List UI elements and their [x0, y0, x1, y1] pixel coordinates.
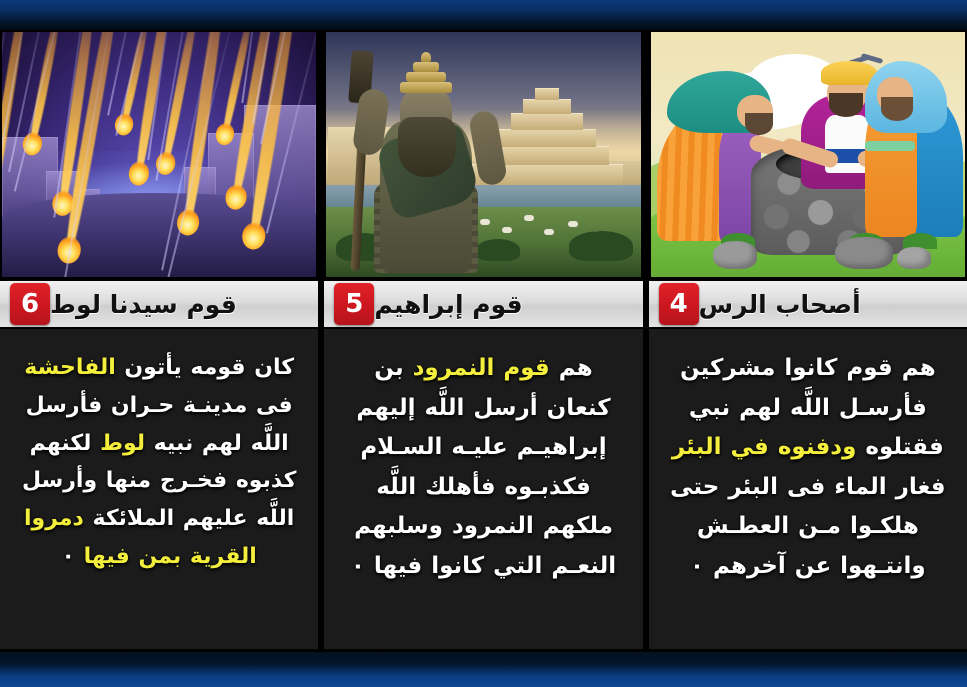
figure-right-man: [853, 57, 963, 237]
infographic-stage: أصحاب الرس 4 هم قوم كانوا مشركين فأرسـل …: [0, 0, 967, 687]
panel-title: قوم إبراهيم: [374, 292, 522, 317]
panel-title: أصحاب الرس: [699, 292, 861, 317]
panel-qawm-lut[interactable]: قوم سيدنا لوط 6 كان قومه يأتون الفاحشة ف…: [0, 30, 318, 649]
text-run: بن كنعان أرسل اللَّه إليهم إبراهيـم عليـ…: [351, 355, 616, 579]
scene-nimrod-ziggurat: [326, 32, 640, 277]
panel-illustration-nimrod: [324, 30, 642, 279]
panel-illustration-well: [649, 30, 967, 279]
panel-body-text: كان قومه يأتون الفاحشة فى مدينـة حـران ف…: [0, 329, 318, 649]
panel-title-bar: أصحاب الرس 4: [649, 279, 967, 329]
highlighted-phrase: الفاحشة: [24, 355, 115, 380]
panel-qawm-ibrahim[interactable]: قوم إبراهيم 5 هم قوم النمرود بن كنعان أر…: [324, 30, 642, 649]
panel-number-badge: 5: [334, 283, 374, 325]
highlighted-phrase: قوم النمرود: [413, 355, 550, 381]
panel-ashab-al-rass[interactable]: أصحاب الرس 4 هم قوم كانوا مشركين فأرسـل …: [649, 30, 967, 649]
text-run: فغار الماء فى البئر حتى هلكـوا مـن العطـ…: [670, 474, 945, 579]
scene-well-cartoon: [651, 32, 965, 277]
rock-shape: [897, 247, 931, 269]
highlighted-phrase: ودفنوه في البئر: [672, 434, 857, 460]
rock-shape: [713, 241, 757, 269]
scene-meteor-rain: [2, 32, 316, 277]
text-run: كان قومه يأتون: [116, 355, 294, 380]
top-chrome-bar: [0, 0, 967, 30]
panel-title-bar: قوم إبراهيم 5: [324, 279, 642, 329]
figure-nimrod-king: [354, 55, 504, 273]
highlighted-phrase: لوط: [100, 431, 145, 456]
panel-body-text: هم قوم النمرود بن كنعان أرسل اللَّه إليه…: [324, 329, 642, 649]
panel-columns: أصحاب الرس 4 هم قوم كانوا مشركين فأرسـل …: [0, 30, 967, 649]
text-run: هم: [550, 355, 593, 381]
text-run: ٠: [62, 544, 84, 569]
panel-title: قوم سيدنا لوط: [50, 292, 237, 317]
desert-ground: [2, 193, 316, 277]
bottom-chrome-bar: [0, 649, 967, 687]
panel-number-badge: 6: [10, 283, 50, 325]
panel-illustration-meteors: [0, 30, 318, 279]
rock-shape: [835, 237, 893, 269]
shrub-shape: [569, 231, 633, 261]
panel-body-text: هم قوم كانوا مشركين فأرسـل اللَّه لهم نب…: [649, 329, 967, 649]
panel-number-badge: 4: [659, 283, 699, 325]
panel-title-bar: قوم سيدنا لوط 6: [0, 279, 318, 329]
